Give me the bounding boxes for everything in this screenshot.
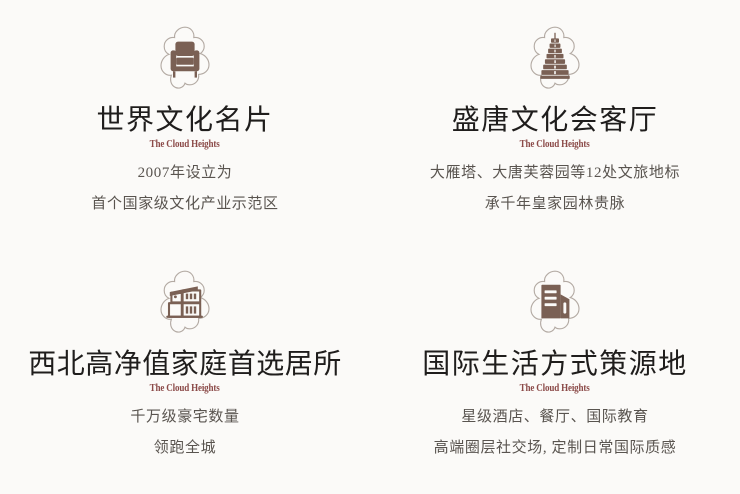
feature-card-world-culture: 世界文化名片 The Cloud Heights 2007年设立为 首个国家级文… xyxy=(0,6,370,250)
description-line: 领跑全城 xyxy=(154,439,216,459)
feature-grid: 世界文化名片 The Cloud Heights 2007年设立为 首个国家级文… xyxy=(0,0,740,494)
description-line: 承千年皇家园林贵脉 xyxy=(485,195,625,215)
headline-block: 国际生活方式策源地 The Cloud Heights xyxy=(422,350,688,394)
headline-block: 世界文化名片 The Cloud Heights xyxy=(96,106,273,150)
brand-subtitle: The Cloud Heights xyxy=(520,383,590,394)
description-block: 星级酒店、餐厅、国际教育 高端圈层社交场, 定制日常国际质感 xyxy=(434,408,677,458)
brand-subtitle: The Cloud Heights xyxy=(150,383,220,394)
feature-card-premium-residence: 西北高净值家庭首选居所 The Cloud Heights 千万级豪宅数量 领跑… xyxy=(0,250,370,494)
description-line: 大雁塔、大唐芙蓉园等12处文旅地标 xyxy=(430,164,680,184)
feature-headline: 盛唐文化会客厅 xyxy=(452,106,659,136)
headline-block: 西北高净值家庭首选居所 The Cloud Heights xyxy=(28,350,342,394)
description-block: 千万级豪宅数量 领跑全城 xyxy=(130,408,239,458)
description-line: 星级酒店、餐厅、国际教育 xyxy=(461,408,648,428)
brand-subtitle: The Cloud Heights xyxy=(520,139,590,150)
description-line: 高端圈层社交场, 定制日常国际质感 xyxy=(434,439,677,459)
armchair-icon xyxy=(141,20,229,100)
feature-card-tang-culture: 盛唐文化会客厅 The Cloud Heights 大雁塔、大唐芙蓉园等12处文… xyxy=(370,6,740,250)
description-block: 大雁塔、大唐芙蓉园等12处文旅地标 承千年皇家园林贵脉 xyxy=(430,164,680,214)
description-line: 千万级豪宅数量 xyxy=(130,408,239,428)
description-block: 2007年设立为 首个国家级文化产业示范区 xyxy=(91,164,278,214)
feature-headline: 西北高净值家庭首选居所 xyxy=(28,350,342,380)
brand-subtitle: The Cloud Heights xyxy=(150,139,220,150)
description-line: 2007年设立为 xyxy=(138,164,233,184)
city-building-icon xyxy=(511,264,599,344)
villa-icon xyxy=(141,264,229,344)
feature-headline: 世界文化名片 xyxy=(96,106,273,136)
description-line: 首个国家级文化产业示范区 xyxy=(91,195,278,215)
headline-block: 盛唐文化会客厅 The Cloud Heights xyxy=(452,106,659,150)
pagoda-icon xyxy=(511,20,599,100)
feature-headline: 国际生活方式策源地 xyxy=(422,350,688,380)
feature-card-international-lifestyle: 国际生活方式策源地 The Cloud Heights 星级酒店、餐厅、国际教育… xyxy=(370,250,740,494)
